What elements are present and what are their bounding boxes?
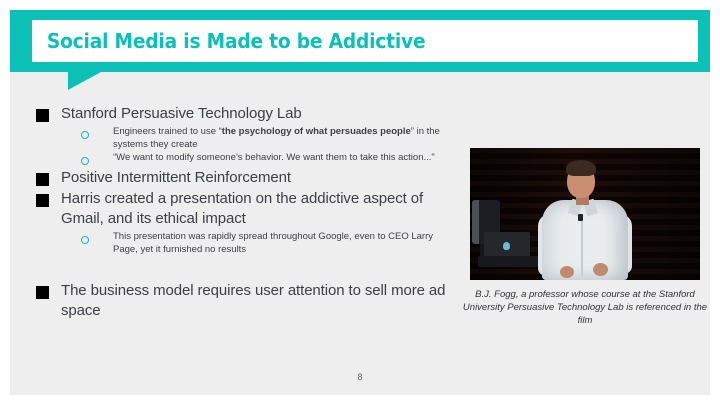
circle-bullet-icon (81, 236, 89, 244)
speaker-hair (566, 160, 596, 176)
speaker-right-hand (593, 263, 608, 276)
list-item: Engineers trained to use “the psychology… (81, 126, 456, 151)
sub-bullet-text: This presentation was rapidly spread thr… (113, 231, 456, 256)
speaker-shirt-placket (581, 214, 583, 276)
figure-image (470, 148, 700, 280)
list-item: “We want to modify someone’s behavior. W… (81, 152, 456, 165)
bullet-list: Stanford Persuasive Technology Lab Engin… (36, 104, 456, 322)
figure-caption: B.J. Fogg, a professor whose course at t… (462, 288, 708, 327)
bullet-text: The business model requires user attenti… (61, 281, 456, 321)
bullet-text: Stanford Persuasive Technology Lab (61, 104, 302, 124)
speech-bubble-tail-icon (68, 72, 101, 90)
laptop-base-shape (478, 256, 540, 267)
circle-bullet-icon (81, 157, 89, 165)
page-title: Social Media is Made to be Addictive (32, 29, 425, 53)
square-bullet-icon (36, 109, 49, 122)
circle-bullet-icon (81, 131, 89, 139)
list-item: This presentation was rapidly spread thr… (81, 231, 456, 256)
sub-bullet-text: Engineers trained to use “the psychology… (113, 126, 456, 151)
presentation-slide: Social Media is Made to be Addictive Sta… (0, 0, 720, 405)
lapel-mic-icon (578, 214, 583, 221)
speaker-shirt (542, 200, 628, 280)
monitor-edge-shape (472, 200, 479, 244)
speaker-photo (470, 148, 700, 280)
square-bullet-icon (36, 194, 49, 207)
square-bullet-icon (36, 286, 49, 299)
sub-bullet-list: Engineers trained to use “the psychology… (81, 126, 456, 165)
bullet-text: Harris created a presentation on the add… (61, 189, 456, 229)
sub-bullet-list: This presentation was rapidly spread thr… (81, 231, 456, 256)
slide-title-inner-box: Social Media is Made to be Addictive (32, 20, 698, 62)
sub-bullet-emphasis: the psychology of what persuades people (222, 126, 411, 137)
list-item: The business model requires user attenti… (36, 281, 456, 321)
slide-title-bar: Social Media is Made to be Addictive (10, 10, 710, 72)
spacer (36, 259, 456, 281)
sub-bullet-text: “We want to modify someone’s behavior. W… (113, 152, 435, 165)
sub-bullet-prefix: Engineers trained to use “ (113, 126, 222, 137)
list-item: Positive Intermittent Reinforcement (36, 168, 456, 188)
page-number: 8 (0, 372, 720, 382)
square-bullet-icon (36, 173, 49, 186)
list-item: Harris created a presentation on the add… (36, 189, 456, 229)
speaker-left-hand (560, 266, 574, 278)
list-item: Stanford Persuasive Technology Lab (36, 104, 456, 124)
laptop-logo-icon (503, 242, 510, 250)
bullet-text: Positive Intermittent Reinforcement (61, 168, 291, 188)
